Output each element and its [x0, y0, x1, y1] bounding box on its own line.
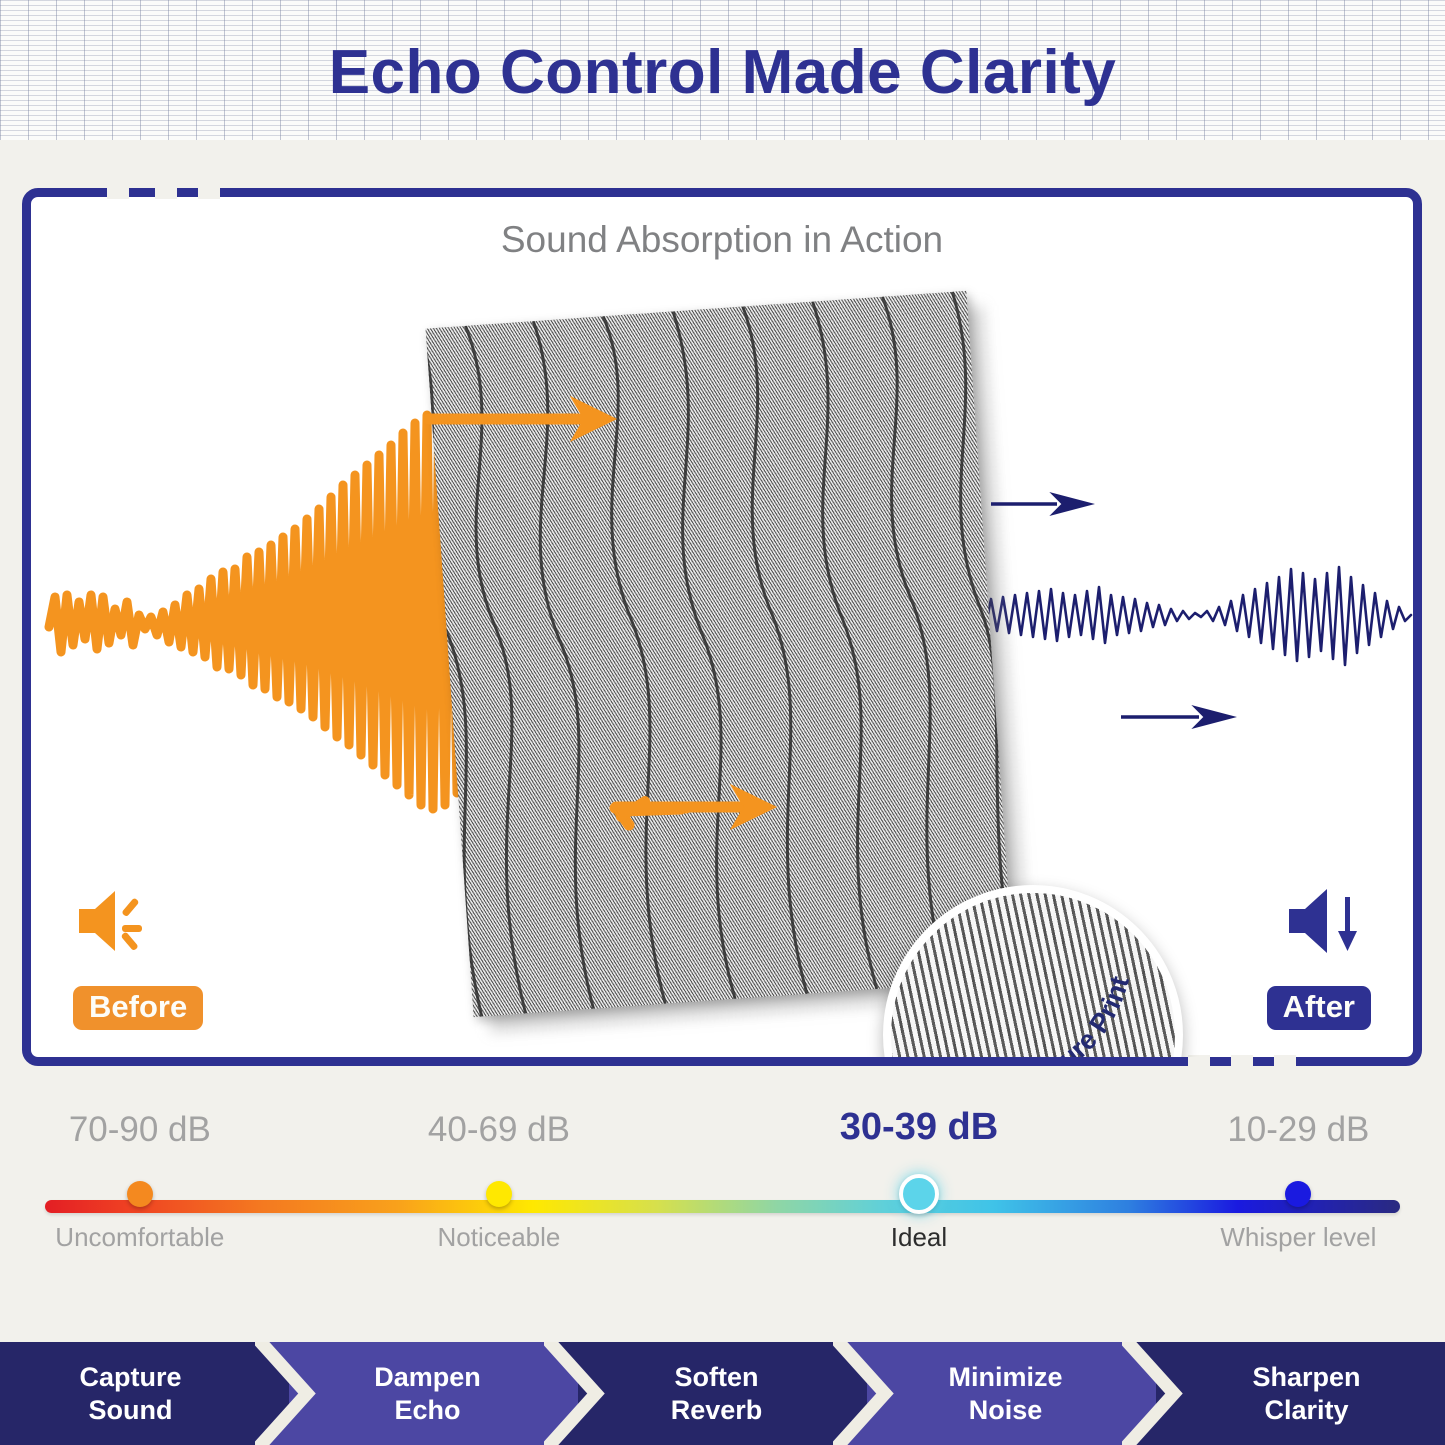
- scale-label: Uncomfortable: [55, 1222, 224, 1253]
- illustration-panel: Sound Absorption in Action: [22, 188, 1422, 1066]
- chevron-divider-icon: [544, 1342, 612, 1445]
- step-line1: Minimize: [948, 1361, 1062, 1394]
- scale-label: Noticeable: [437, 1222, 560, 1253]
- step-line2: Sound: [79, 1394, 181, 1427]
- scale-value: 10-29 dB: [1227, 1110, 1369, 1150]
- page-title: Echo Control Made Clarity: [329, 37, 1117, 108]
- step-line2: Noise: [948, 1394, 1062, 1427]
- step-line2: Clarity: [1252, 1394, 1360, 1427]
- process-step-minimize-noise[interactable]: Minimize Noise: [867, 1342, 1156, 1445]
- before-badge: Before: [73, 986, 203, 1030]
- scale-value: 30-39 dB: [840, 1106, 998, 1149]
- transmitted-arrows-navy: [31, 197, 1413, 1057]
- decibel-scale: 70-90 dB Uncomfortable 40-69 dB Noticeab…: [0, 1090, 1445, 1320]
- process-step-sharpen-clarity[interactable]: Sharpen Clarity: [1156, 1342, 1445, 1445]
- scale-label: Whisper level: [1220, 1222, 1376, 1253]
- speaker-loud-icon: [75, 885, 153, 962]
- header-banner: Echo Control Made Clarity: [0, 0, 1445, 140]
- scale-value: 40-69 dB: [428, 1110, 570, 1150]
- chevron-divider-icon: [255, 1342, 323, 1445]
- speaker-quiet-down-icon: [1285, 885, 1365, 962]
- process-step-capture-sound[interactable]: Capture Sound: [0, 1342, 289, 1445]
- after-badge: After: [1267, 986, 1371, 1030]
- process-step-soften-reverb[interactable]: Soften Reverb: [578, 1342, 867, 1445]
- scale-marker-dot[interactable]: [1285, 1181, 1311, 1207]
- chevron-divider-icon: [833, 1342, 901, 1445]
- scale-value: 70-90 dB: [69, 1110, 211, 1150]
- process-chevron-bar: Capture Sound Dampen Echo Soften Reverb …: [0, 1342, 1445, 1445]
- step-line1: Dampen: [374, 1361, 481, 1394]
- scale-label: Ideal: [891, 1222, 947, 1253]
- scale-marker-dot[interactable]: [899, 1174, 939, 1214]
- step-line2: Echo: [374, 1394, 481, 1427]
- chevron-divider-icon: [1122, 1342, 1190, 1445]
- process-step-dampen-echo[interactable]: Dampen Echo: [289, 1342, 578, 1445]
- scale-gradient-track: [45, 1200, 1400, 1213]
- panel-stage: Sound Absorption in Action: [31, 197, 1413, 1057]
- step-line2: Reverb: [671, 1394, 763, 1427]
- step-line1: Soften: [671, 1361, 763, 1394]
- step-line1: Capture: [79, 1361, 181, 1394]
- scale-marker-dot[interactable]: [486, 1181, 512, 1207]
- step-line1: Sharpen: [1252, 1361, 1360, 1394]
- scale-marker-dot[interactable]: [127, 1181, 153, 1207]
